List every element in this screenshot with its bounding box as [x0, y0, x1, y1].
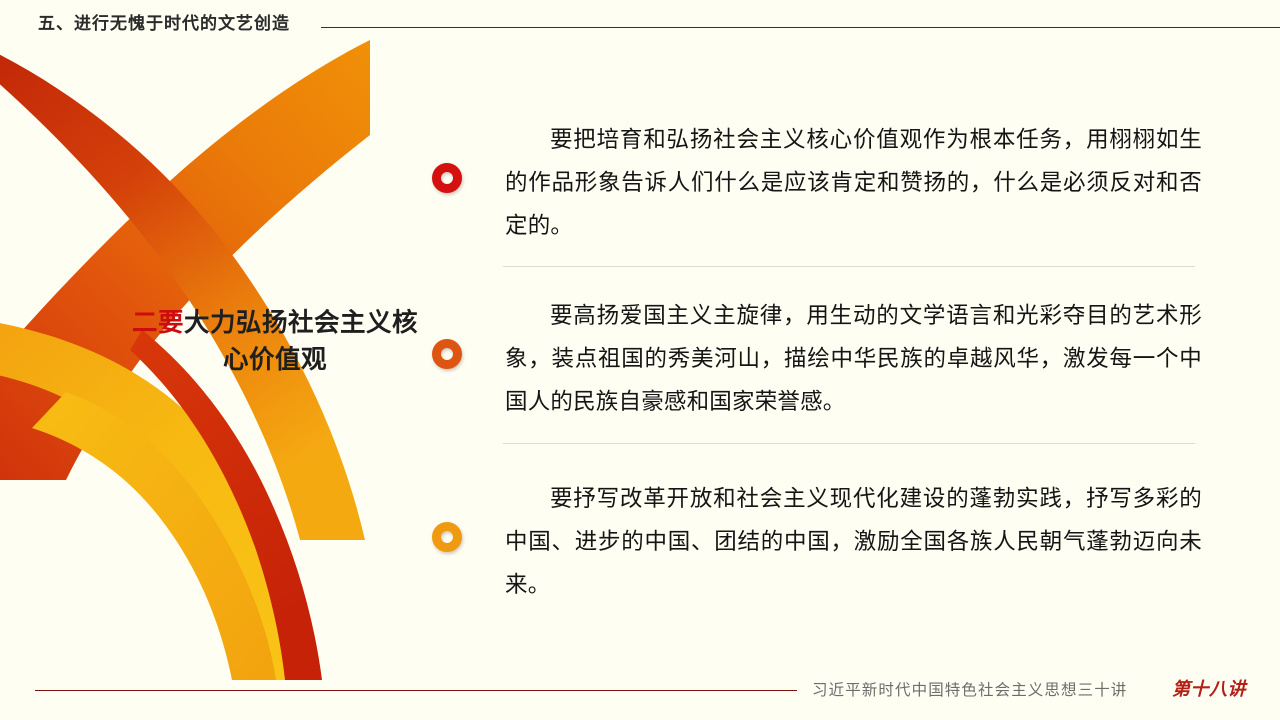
- header-divider: [321, 27, 1280, 28]
- bullet-text-1: 要把培育和弘扬社会主义核心价值观作为根本任务，用栩栩如生的作品形象告诉人们什么是…: [505, 118, 1202, 247]
- bullet-item-2: 要高扬爱国主义主旋律，用生动的文学语言和光彩夺目的艺术形象，装点祖国的秀美河山，…: [432, 294, 1202, 423]
- page-title: 五、进行无愧于时代的文艺创造: [38, 9, 290, 34]
- bullet-text-3: 要抒写改革开放和社会主义现代化建设的蓬勃实践，抒写多彩的中国、进步的中国、团结的…: [505, 477, 1202, 606]
- footer-divider: [35, 690, 797, 691]
- section-heading: 二要大力弘扬社会主义核心价值观: [130, 305, 420, 379]
- bullet-text-2: 要高扬爱国主义主旋律，用生动的文学语言和光彩夺目的艺术形象，装点祖国的秀美河山，…: [505, 294, 1202, 423]
- section-heading-accent: 二要: [132, 309, 184, 337]
- ribbon-band-red: [0, 40, 365, 540]
- ring-bullet-orange-red-icon: [432, 339, 462, 369]
- bullet-item-1: 要把培育和弘扬社会主义核心价值观作为根本任务，用栩栩如生的作品形象告诉人们什么是…: [432, 118, 1202, 247]
- ribbon-band-red-lower: [130, 330, 322, 680]
- footer-series-title: 习近平新时代中国特色社会主义思想三十讲: [812, 678, 1127, 700]
- bullet-separator-1: [503, 266, 1195, 267]
- ribbon-band-orange: [0, 40, 370, 480]
- section-heading-rest: 大力弘扬社会主义核心价值观: [184, 309, 418, 374]
- footer-lecture-label: 第十八讲: [1172, 675, 1246, 701]
- slide-canvas: 五、进行无愧于时代的文艺创造: [0, 0, 1280, 720]
- ring-bullet-red-icon: [432, 163, 462, 193]
- bullet-separator-2: [503, 443, 1195, 444]
- ring-bullet-amber-icon: [432, 522, 462, 552]
- ribbon-band-gold-overlap: [32, 392, 276, 680]
- bullet-item-3: 要抒写改革开放和社会主义现代化建设的蓬勃实践，抒写多彩的中国、进步的中国、团结的…: [432, 477, 1202, 606]
